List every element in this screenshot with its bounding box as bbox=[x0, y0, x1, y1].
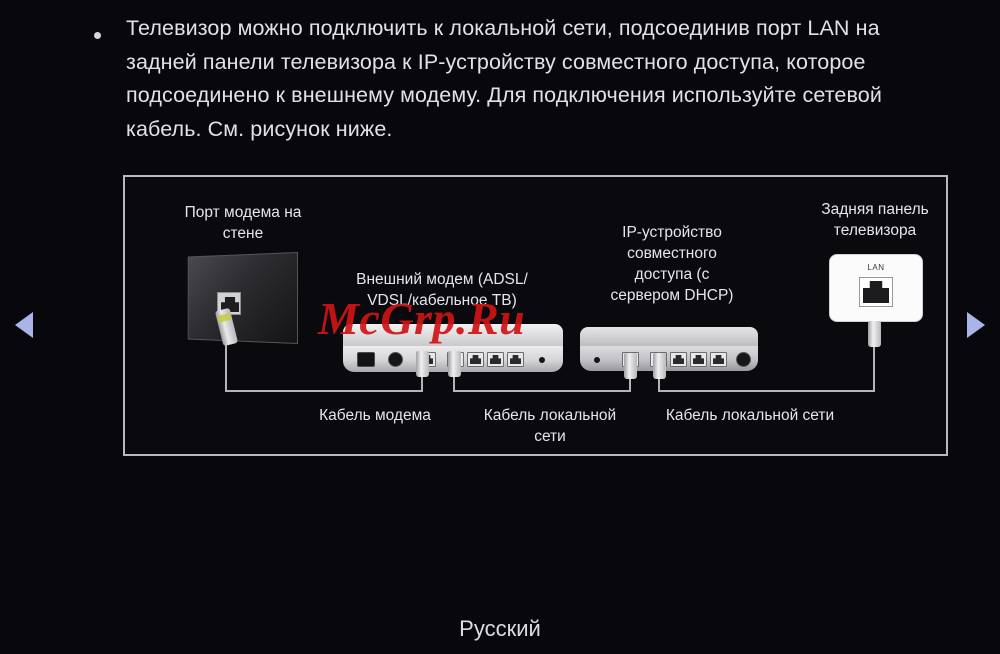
cable-modem-connector bbox=[416, 351, 429, 377]
ipdev-lan-port-4 bbox=[710, 352, 727, 367]
cable-lan2-segment-vertical-right bbox=[873, 345, 875, 392]
ipdev-power-button bbox=[736, 352, 751, 367]
cable-modem-segment-vertical-left bbox=[225, 345, 227, 392]
wall-panel-graphic bbox=[188, 252, 298, 344]
label-external-modem: Внешний модем (ADSL/ VDSL/кабельное ТВ) bbox=[337, 269, 547, 311]
label-cable-lan-2: Кабель локальной сети bbox=[635, 405, 865, 426]
ipdev-front-face bbox=[580, 346, 758, 371]
label-cable-lan-1: Кабель локальной сети bbox=[460, 405, 640, 447]
bullet-point-icon bbox=[94, 32, 101, 39]
ip-sharing-device bbox=[580, 327, 758, 371]
cable-lan2-connector-ipdev bbox=[653, 353, 666, 379]
modem-reset-dot bbox=[539, 357, 545, 363]
label-ip-sharing-device: IP-устройство совместного доступа (с сер… bbox=[577, 222, 767, 306]
cable-lan1-connector-ipdev bbox=[624, 353, 637, 379]
tv-lan-port-label: LAN bbox=[830, 263, 922, 272]
modem-lan-port-3 bbox=[487, 352, 504, 367]
ipdev-lan-port-2 bbox=[670, 352, 687, 367]
screen-root: Телевизор можно подключить к локальной с… bbox=[0, 0, 1000, 654]
tv-lan-jack-icon bbox=[859, 277, 893, 307]
footer-language-label: Русский bbox=[0, 616, 1000, 642]
cable-lan2-connector-tv bbox=[868, 321, 881, 347]
label-tv-back-panel: Задняя панель телевизора bbox=[785, 199, 948, 241]
modem-lan-port-4 bbox=[507, 352, 524, 367]
ipdev-top-surface bbox=[580, 327, 758, 346]
modem-lan-port-2 bbox=[467, 352, 484, 367]
ipdev-reset-dot bbox=[594, 357, 600, 363]
intro-paragraph-block: Телевизор можно подключить к локальной с… bbox=[88, 12, 928, 146]
network-connection-diagram: Порт модема на стене Внешний модем (ADSL… bbox=[123, 175, 948, 456]
modem-power-jack bbox=[388, 352, 403, 367]
modem-top-surface bbox=[343, 324, 563, 346]
intro-paragraph-text: Телевизор можно подключить к локальной с… bbox=[126, 12, 928, 146]
cable-lan2-segment-horizontal bbox=[658, 390, 875, 392]
tv-back-panel-graphic: LAN bbox=[830, 255, 922, 321]
ipdev-lan-port-3 bbox=[690, 352, 707, 367]
next-page-arrow-icon[interactable] bbox=[967, 312, 985, 338]
cable-lan1-connector-modem bbox=[448, 351, 461, 377]
cable-lan1-segment-horizontal bbox=[453, 390, 631, 392]
previous-page-arrow-icon[interactable] bbox=[15, 312, 33, 338]
label-cable-modem: Кабель модема bbox=[275, 405, 475, 426]
modem-power-switch bbox=[357, 352, 375, 367]
label-wall-modem-port: Порт модема на стене bbox=[143, 202, 343, 244]
cable-modem-segment-horizontal bbox=[225, 390, 423, 392]
